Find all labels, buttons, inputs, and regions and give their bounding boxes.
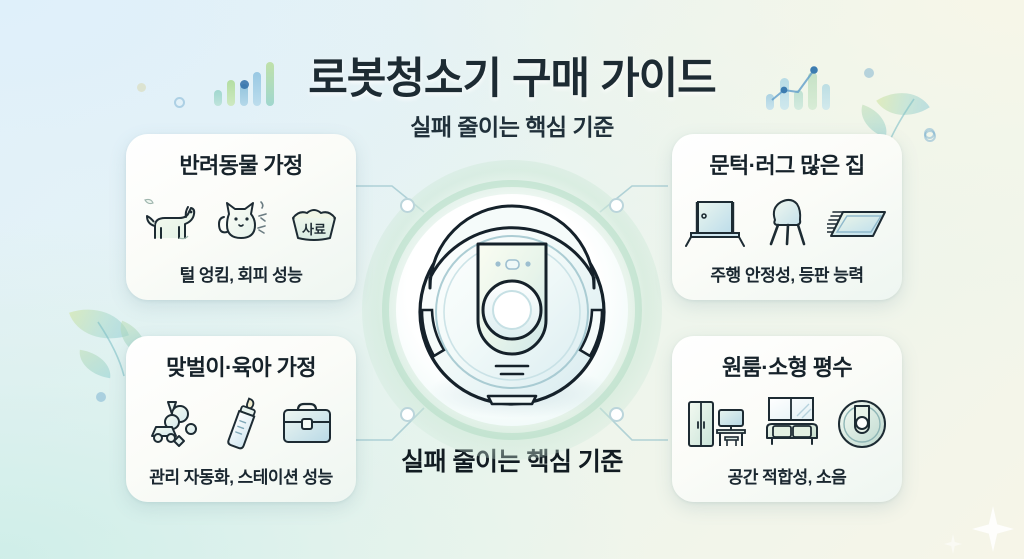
center-hub [362, 160, 662, 460]
toys-icon [146, 396, 208, 452]
card-threshold-subtitle: 주행 안정성, 등판 능력 [710, 261, 863, 300]
baby-bottle-icon [220, 396, 266, 452]
robot-vacuum-icon [362, 160, 662, 460]
card-dual-income-subtitle: 관리 자동화, 스테이션 성능 [149, 463, 332, 502]
card-studio-icons [672, 382, 902, 463]
card-studio-subtitle: 공간 적합성, 소음 [728, 463, 847, 502]
card-threshold-title: 문턱·러그 많은 집 [709, 148, 864, 180]
card-studio-title: 원룸·소형 평수 [722, 350, 852, 382]
card-pets-icons: 사료 [126, 180, 356, 261]
card-pets-subtitle: 털 엉킴, 회피 성능 [180, 261, 303, 300]
pet-food-bowl-icon: 사료 [285, 194, 343, 250]
dog-icon [139, 194, 201, 250]
rug-icon [827, 194, 889, 250]
card-dual-income[interactable]: 맞벌이·육아 가정 [126, 336, 356, 502]
card-pets-title: 반려동물 가정 [179, 148, 302, 180]
card-pets[interactable]: 반려동물 가정 [126, 134, 356, 300]
robot-vacuum-small-icon [835, 396, 889, 452]
card-threshold[interactable]: 문턱·러그 많은 집 [672, 134, 902, 300]
door-threshold-icon [685, 194, 745, 250]
wardrobe-desk-icon [685, 396, 749, 452]
card-threshold-icons [672, 180, 902, 261]
page-title: 로봇청소기 구매 가이드 [0, 44, 1024, 106]
cat-icon [213, 194, 273, 250]
chair-icon [757, 194, 815, 250]
bowl-label: 사료 [302, 222, 326, 237]
sofa-icon [761, 396, 823, 452]
card-studio[interactable]: 원룸·소형 평수 [672, 336, 902, 502]
briefcase-icon [278, 396, 336, 452]
card-dual-income-title: 맞벌이·육아 가정 [166, 350, 316, 382]
infographic-canvas: 로봇청소기 구매 가이드 실패 줄이는 핵심 기준 실패 줄이는 핵심 기준 [0, 0, 1024, 559]
card-dual-income-icons [126, 382, 356, 463]
